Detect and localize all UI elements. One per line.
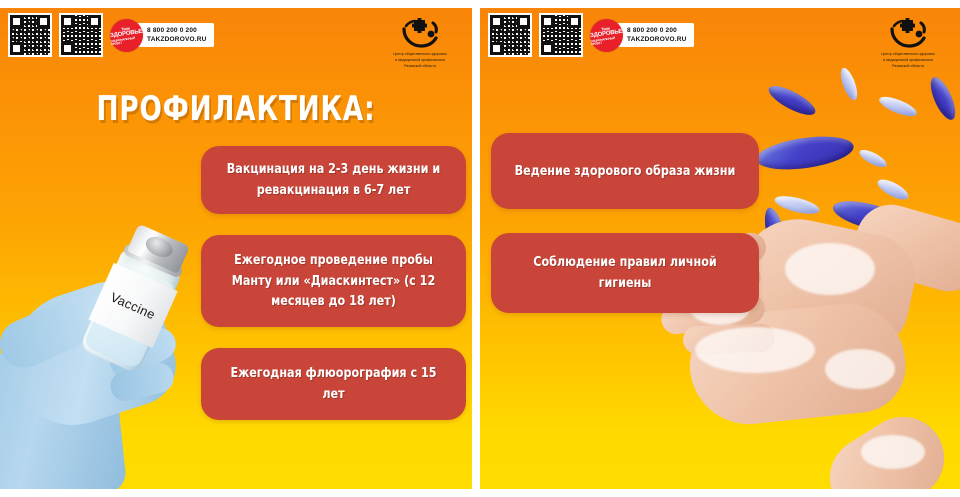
soap-foam-3 xyxy=(825,349,895,389)
bacterium-6 xyxy=(857,147,889,171)
bacterium-1 xyxy=(765,81,819,120)
vaccine-photo: Vaccine xyxy=(0,159,230,489)
prevention-item-4: Ведение здорового образа жизни xyxy=(491,133,759,209)
prevention-item-5-text: Соблюдение правил личной гигиены xyxy=(515,252,736,294)
org-logo-mark-icon xyxy=(380,16,460,50)
prevention-item-2-text: Ежегодное проведение пробы Манту или «Ди… xyxy=(224,250,442,313)
takzdorovo-phone-right: 8 800 200 0 200 xyxy=(627,26,687,35)
prevention-item-2: Ежегодное проведение пробы Манту или «Ди… xyxy=(201,235,466,327)
takzdorovo-site-right: TAKZDOROVO.RU xyxy=(627,35,687,44)
vial-label-text: Vaccine xyxy=(108,289,157,322)
takzdorovo-contact-plate: 8 800 200 0 200 TAKZDOROVO.RU xyxy=(137,23,214,48)
soap-foam-1 xyxy=(785,243,875,295)
left-poster-panel: Vaccine ПРОФИЛАКТИКА: Вакцинация на 2-3 … xyxy=(0,8,472,489)
prevention-item-3-text: Ежегодная флюорография с 15 лет xyxy=(224,363,442,405)
right-panel-clip: Ведение здорового образа жизни Соблюдени… xyxy=(480,8,960,489)
poster-canvas: Vaccine ПРОФИЛАКТИКА: Вакцинация на 2-3 … xyxy=(0,0,960,497)
org-logo-line3-right: Рязанской области xyxy=(868,64,948,70)
right-poster-panel: Ведение здорового образа жизни Соблюдени… xyxy=(480,8,960,489)
qr-code-4-icon[interactable] xyxy=(539,13,583,57)
left-header-logos: Твое ЗДОРОВЬЕ НАЦИОНАЛЬНЫЙ ПРОЕКТ 8 800 … xyxy=(8,13,214,57)
left-panel-clip: Vaccine ПРОФИЛАКТИКА: Вакцинация на 2-3 … xyxy=(0,8,472,489)
takzdorovo-contact-plate-right: 8 800 200 0 200 TAKZDOROVO.RU xyxy=(617,23,694,48)
qr-code-1-icon[interactable] xyxy=(8,13,52,57)
left-org-logo: Центр общественного здоровья и медицинск… xyxy=(380,16,460,70)
right-header-logos: Твое ЗДОРОВЬЕ НАЦИОНАЛЬНЫЙ ПРОЕКТ 8 800 … xyxy=(488,13,694,57)
takzdorovo-phone: 8 800 200 0 200 xyxy=(147,26,207,35)
bacterium-3 xyxy=(877,93,919,120)
prevention-item-5: Соблюдение правил личной гигиены xyxy=(491,233,759,313)
qr-code-3-icon[interactable] xyxy=(488,13,532,57)
takzdorovo-circle-icon: Твое ЗДОРОВЬЕ НАЦИОНАЛЬНЫЙ ПРОЕКТ xyxy=(108,16,145,53)
prevention-item-4-text: Ведение здорового образа жизни xyxy=(515,161,736,182)
org-logo-caption: Центр общественного здоровья и медицинск… xyxy=(380,52,460,70)
prevention-item-1: Вакцинация на 2-3 день жизни и ревакцина… xyxy=(201,146,466,214)
org-logo-line3: Рязанской области xyxy=(380,64,460,70)
soap-foam-5 xyxy=(861,435,925,469)
qr-code-2-icon[interactable] xyxy=(59,13,103,57)
org-logo-mark-icon-right xyxy=(868,16,948,50)
takzdorovo-site: TAKZDOROVO.RU xyxy=(147,35,207,44)
org-logo-caption-right: Центр общественного здоровья и медицинск… xyxy=(868,52,948,70)
takzdorovo-badge[interactable]: Твое ЗДОРОВЬЕ НАЦИОНАЛЬНЫЙ ПРОЕКТ 8 800 … xyxy=(110,18,214,52)
bacterium-5 xyxy=(754,131,855,174)
bacterium-4 xyxy=(926,74,960,123)
takzdorovo-circle-icon-right: Твое ЗДОРОВЬЕ НАЦИОНАЛЬНЫЙ ПРОЕКТ xyxy=(588,16,625,53)
right-org-logo: Центр общественного здоровья и медицинск… xyxy=(868,16,948,70)
bacterium-2 xyxy=(838,66,861,102)
takzdorovo-badge-right[interactable]: Твое ЗДОРОВЬЕ НАЦИОНАЛЬНЫЙ ПРОЕКТ 8 800 … xyxy=(590,18,694,52)
page-title: ПРОФИЛАКТИКА: xyxy=(33,92,439,126)
prevention-item-3: Ежегодная флюорография с 15 лет xyxy=(201,348,466,420)
soap-foam-2 xyxy=(695,327,815,373)
prevention-item-1-text: Вакцинация на 2-3 день жизни и ревакцина… xyxy=(224,159,442,201)
